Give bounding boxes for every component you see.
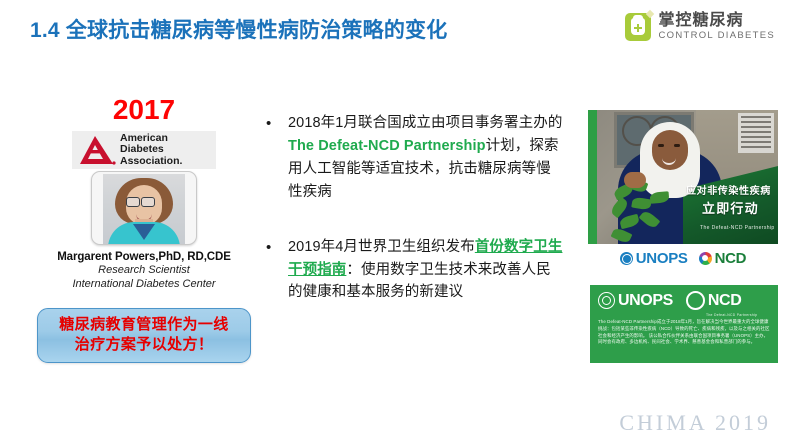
bullet-list: • 2018年1月联合国成立由项目事务署主办的The Defeat-NCD Pa…	[264, 112, 564, 304]
portrait-glasses-left	[126, 197, 140, 207]
ada-wordmark: American Diabetes Association.	[120, 133, 182, 168]
left-column: 2017 American Diabetes Association.	[33, 96, 255, 363]
un-globe-icon	[620, 252, 633, 265]
bullet-segment-1: 2019年4月世界卫生组织发布	[288, 239, 475, 255]
photo-overlay-line-1: 应对非传染性疾病	[686, 182, 771, 197]
photo-side-note	[738, 113, 774, 153]
footer-brand: CHIMA 2019	[619, 410, 771, 436]
american-diabetes-association-logo: American Diabetes Association.	[72, 131, 216, 169]
unops-wordmark: UNOPS	[636, 250, 688, 267]
list-item: • 2018年1月联合国成立由项目事务署主办的The Defeat-NCD Pa…	[264, 112, 564, 204]
person-organization: International Diabetes Center	[33, 277, 255, 291]
bullet-text: 2019年4月世界卫生组织发布首份数字卫生干预指南：使用数字卫生技术来改善人民的…	[288, 236, 564, 305]
portrait-image	[103, 174, 185, 244]
photo-overlay-caption: The Defeat-NCD Partnership	[700, 225, 775, 231]
photo-eye-left	[658, 144, 664, 147]
info-card-logos: UNOPS NCD	[598, 291, 770, 310]
brand-name-en: CONTROL DIABETES	[658, 31, 775, 41]
person-role: Research Scientist	[33, 263, 255, 277]
hand-plus-icon	[625, 13, 651, 41]
photo-card-logos: UNOPS NCD	[588, 244, 778, 272]
list-item: • 2019年4月世界卫生组织发布首份数字卫生干预指南：使用数字卫生技术来改善人…	[264, 236, 564, 305]
callout-line-2: 治疗方案予以处方！	[42, 335, 246, 355]
bullet-marker: •	[264, 112, 288, 136]
portrait-glasses-right	[141, 197, 155, 207]
plus-horizontal	[634, 27, 642, 29]
ncd-ring-icon	[686, 291, 705, 310]
brand-text: 掌控糖尿病 CONTROL DIABETES	[658, 13, 775, 41]
bullet-highlight: The Defeat-NCD Partnership	[288, 138, 486, 154]
defeat-ncd-partnership-info-card: UNOPS NCD The Defeat-NCD Partnership The…	[590, 285, 778, 363]
bullet-marker: •	[264, 236, 288, 260]
un-globe-icon	[598, 292, 615, 309]
photo-leaves	[610, 180, 676, 244]
unops-wordmark: UNOPS	[618, 293, 673, 309]
spark-shape	[646, 10, 654, 18]
unops-logo: UNOPS	[598, 292, 673, 309]
ncd-logo: NCD	[686, 291, 741, 310]
unops-logo: UNOPS	[620, 250, 688, 267]
defeat-ncd-campaign-photo: 应对非传染性疾病 立即行动 The Defeat-NCD Partnership…	[588, 110, 778, 272]
avatar	[91, 171, 197, 245]
ncd-wordmark: NCD	[715, 250, 747, 267]
photo-green-bar	[588, 110, 597, 244]
page-title: 1.4 全球抗击糖尿病等慢性病防治策略的变化	[30, 14, 447, 44]
campaign-photo-image: 应对非传染性疾病 立即行动 The Defeat-NCD Partnership	[588, 110, 778, 244]
ncd-wordmark: NCD	[708, 293, 741, 309]
bullet-text: 2018年1月联合国成立由项目事务署主办的The Defeat-NCD Part…	[288, 112, 564, 204]
callout-box: 糖尿病教育管理作为一线 治疗方案予以处方！	[37, 308, 251, 364]
bullet-segment-1: 2018年1月联合国成立由项目事务署主办的	[288, 115, 562, 131]
ncd-ring-icon	[699, 252, 712, 265]
person-name: Margarent Powers,PhD, RD,CDE	[33, 251, 255, 263]
info-card-logo-subtitle: The Defeat-NCD Partnership	[706, 313, 770, 317]
photo-hand	[624, 172, 646, 188]
photo-eye-right	[674, 144, 680, 147]
brand-logo: 掌控糖尿病 CONTROL DIABETES	[625, 13, 775, 41]
ada-triangle-icon	[78, 134, 118, 166]
year-label: 2017	[33, 96, 255, 124]
ncd-logo: NCD	[699, 250, 747, 267]
slide-canvas: 1.4 全球抗击糖尿病等慢性病防治策略的变化 掌控糖尿病 CONTROL DIA…	[0, 0, 793, 446]
brand-name-cn: 掌控糖尿病	[658, 13, 775, 30]
ada-line-3: Association.	[120, 156, 182, 168]
info-card-body-text: The Defeat-NCD Partnership成立于2018年1月，旨在解…	[598, 319, 770, 346]
callout-line-1: 糖尿病教育管理作为一线	[42, 315, 246, 335]
photo-overlay-line-2: 立即行动	[702, 198, 759, 217]
